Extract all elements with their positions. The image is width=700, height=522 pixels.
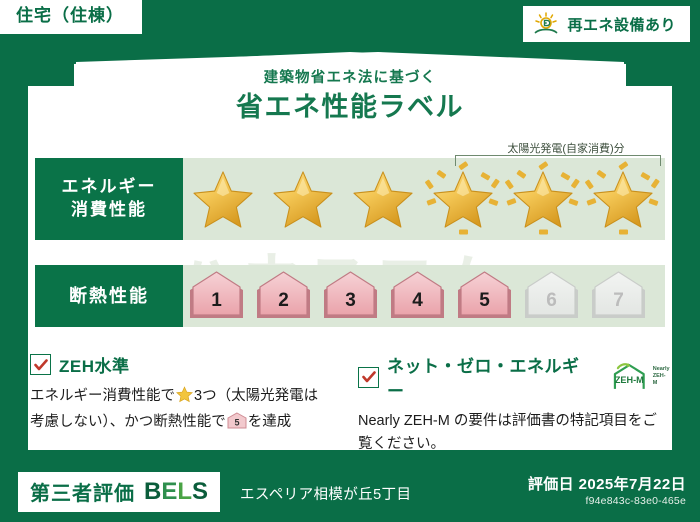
criteria-zeh-body-pre: エネルギー消費性能で xyxy=(30,388,175,404)
insulation-level-1: 1 xyxy=(183,265,250,327)
energy-row-label-line1: エネルギー xyxy=(62,176,157,199)
label-subtitle: 建築物省エネ法に基づく xyxy=(0,66,700,87)
bels-letter: B xyxy=(144,478,161,505)
insulation-level-4: 4 xyxy=(384,265,451,327)
svg-text:5: 5 xyxy=(234,418,239,428)
insulation-row-label-text: 断熱性能 xyxy=(69,284,149,308)
star-5 xyxy=(503,158,583,240)
renewable-badge-label: 再エネ設備あり xyxy=(567,14,676,35)
insulation-performance-row: 断熱性能 1234567 xyxy=(35,265,665,327)
building-type-tag: 住宅（住棟） xyxy=(0,0,142,34)
checkbox-zeh-standard xyxy=(30,354,51,375)
star-rating xyxy=(183,158,665,240)
label-title: 省エネ性能ラベル xyxy=(0,85,700,124)
solar-note: 太陽光発電(自家消費)分 xyxy=(451,140,681,156)
bels-letter: E xyxy=(161,478,177,505)
insulation-level-number: 3 xyxy=(317,265,384,327)
criteria-nze-title: ネット・ゼロ・エネルギー xyxy=(387,352,594,402)
criteria-zeh-body: エネルギー消費性能で3つ（太陽光発電は考慮しない）、かつ断熱性能で5を達成 xyxy=(30,385,330,438)
star-3 xyxy=(343,158,423,240)
insulation-level-number: 6 xyxy=(518,265,585,327)
energy-row-body: 太陽光発電(自家消費)分 xyxy=(183,158,665,240)
criteria-net-zero-energy: ネット・ゼロ・エネルギー ZEH-M Nearly ZEH-M Nearly Z… xyxy=(358,352,670,457)
energy-row-label: エネルギー 消費性能 xyxy=(35,158,183,240)
energy-row-label-line2: 消費性能 xyxy=(71,199,147,222)
energy-performance-label: 住宅（住棟） 再エネ設備あり 建築物省エネ法に基づく 省エネ性能ラベル ハウスコ… xyxy=(0,0,700,522)
bels-logo-box: 第三者評価 BELS xyxy=(18,472,220,512)
zeh-m-logo: ZEH-M Nearly ZEH-M xyxy=(608,362,670,392)
evaluation-id: f94e843c-83e0-465e xyxy=(585,495,686,507)
criteria-zeh-standard: ZEH水準 エネルギー消費性能で3つ（太陽光発電は考慮しない）、かつ断熱性能で5… xyxy=(30,352,330,438)
insulation-level-scale: 1234567 xyxy=(183,265,665,327)
insulation-row-body: 1234567 xyxy=(183,265,665,327)
criteria-zeh-title: ZEH水準 xyxy=(59,352,130,377)
insulation-level-3: 3 xyxy=(317,265,384,327)
zeh-m-sub-line1: Nearly xyxy=(653,366,670,373)
footer: 第三者評価 BELS エスペリア相模が丘5丁目 評価日 2025年7月22日 f… xyxy=(0,464,700,522)
energy-performance-row: エネルギー 消費性能 太陽光発電(自家消費)分 xyxy=(35,158,665,240)
insulation-level-5: 5 xyxy=(451,265,518,327)
criteria-zeh-body-post: を達成 xyxy=(248,414,292,430)
evaluation-date: 評価日 2025年7月22日 xyxy=(528,473,686,494)
insulation-level-number: 5 xyxy=(451,265,518,327)
criteria-right-head: ネット・ゼロ・エネルギー ZEH-M Nearly ZEH-M xyxy=(358,352,670,402)
inline-star-icon xyxy=(176,386,193,411)
star-6 xyxy=(583,158,663,240)
third-party-label: 第三者評価 xyxy=(30,477,135,506)
svg-text:ZEH-M: ZEH-M xyxy=(615,375,644,385)
criteria-left-head: ZEH水準 xyxy=(30,352,330,377)
bels-letter: S xyxy=(192,478,208,505)
zeh-m-sub-line2: ZEH-M xyxy=(653,373,670,387)
insulation-level-7: 7 xyxy=(585,265,652,327)
insulation-row-label: 断熱性能 xyxy=(35,265,183,327)
insulation-level-number: 1 xyxy=(183,265,250,327)
insulation-level-number: 7 xyxy=(585,265,652,327)
star-4 xyxy=(423,158,503,240)
renewable-equipment-badge: 再エネ設備あり xyxy=(523,6,690,42)
checkbox-net-zero-energy xyxy=(358,367,379,388)
inline-house-5-icon: 5 xyxy=(227,412,247,437)
bels-wordmark: BELS xyxy=(144,478,208,506)
insulation-level-6: 6 xyxy=(518,265,585,327)
sun-renewable-icon xyxy=(533,12,559,36)
bels-letter: L xyxy=(177,478,192,505)
criteria-nze-body: Nearly ZEH-M の要件は評価書の特記項目をご覧ください。 xyxy=(358,410,670,457)
insulation-level-number: 2 xyxy=(250,265,317,327)
property-name: エスペリア相模が丘5丁目 xyxy=(240,483,411,504)
star-2 xyxy=(263,158,343,240)
star-1 xyxy=(183,158,263,240)
insulation-level-2: 2 xyxy=(250,265,317,327)
insulation-level-number: 4 xyxy=(384,265,451,327)
